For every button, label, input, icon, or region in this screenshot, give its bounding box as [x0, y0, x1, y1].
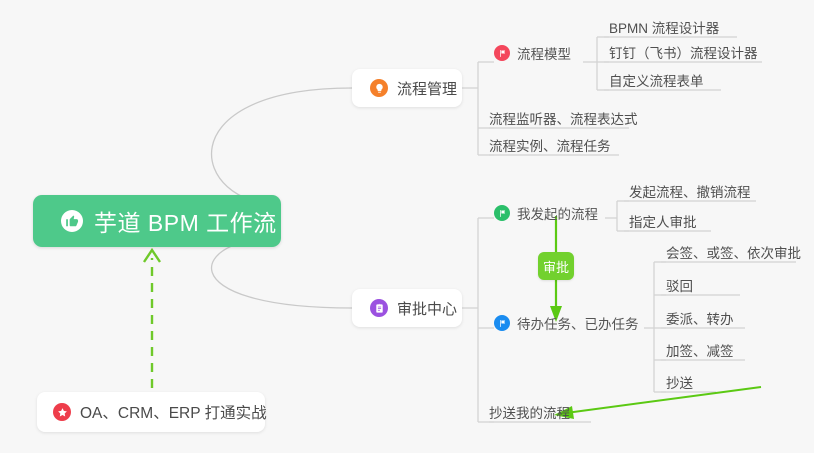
flag-icon	[494, 315, 510, 331]
mindmap-canvas: 芋道 BPM 工作流 流程管理 流程模型 BPMN 流程设计器 钉钉（飞书）流程…	[0, 0, 814, 453]
leaf-reject[interactable]: 驳回	[666, 279, 693, 300]
leaf-custom-process-form[interactable]: 自定义流程表单	[609, 74, 704, 95]
branch-node-process-management[interactable]: 流程管理	[352, 69, 462, 107]
node-my-started-processes[interactable]: 我发起的流程	[494, 203, 598, 223]
thumbs-up-icon	[61, 210, 83, 232]
node-label-integration-practice: OA、CRM、ERP 打通实战	[80, 401, 267, 423]
leaf-cc[interactable]: 抄送	[666, 376, 693, 397]
leaf-add-remove-sign[interactable]: 加签、减签	[666, 344, 734, 365]
leaf-process-listener-expression[interactable]: 流程监听器、流程表达式	[489, 112, 638, 133]
flag-icon	[494, 45, 510, 61]
node-process-model[interactable]: 流程模型	[494, 43, 571, 63]
branch-label-process-management: 流程管理	[397, 78, 457, 99]
clipboard-icon	[370, 299, 388, 317]
node-label-todo-done-tasks: 待办任务、已办任务	[517, 313, 639, 333]
lightbulb-icon	[370, 79, 388, 97]
leaf-process-instance-task[interactable]: 流程实例、流程任务	[489, 139, 611, 160]
leaf-dingtalk-feishu-designer[interactable]: 钉钉（飞书）流程设计器	[609, 46, 758, 67]
root-label: 芋道 BPM 工作流	[94, 204, 277, 238]
node-todo-done-tasks[interactable]: 待办任务、已办任务	[494, 313, 639, 333]
leaf-cc-to-me-processes[interactable]: 抄送我的流程	[489, 406, 570, 427]
annotation-approve-tag: 审批	[538, 252, 574, 280]
leaf-start-cancel-process[interactable]: 发起流程、撤销流程	[629, 185, 751, 206]
leaf-assignee-approval[interactable]: 指定人审批	[629, 215, 697, 236]
annotation-approve-label: 审批	[543, 257, 569, 276]
flag-icon	[494, 205, 510, 221]
star-icon	[53, 403, 71, 421]
root-node[interactable]: 芋道 BPM 工作流	[33, 195, 281, 247]
leaf-countersign-orsign-sequential[interactable]: 会签、或签、依次审批	[666, 246, 801, 267]
node-label-my-started-processes: 我发起的流程	[517, 203, 598, 223]
branch-label-approval-center: 审批中心	[397, 298, 457, 319]
leaf-delegate-transfer[interactable]: 委派、转办	[666, 312, 734, 333]
arrow-head-up	[144, 250, 160, 262]
node-integration-practice[interactable]: OA、CRM、ERP 打通实战	[37, 392, 265, 432]
leaf-bpmn-designer[interactable]: BPMN 流程设计器	[609, 21, 719, 42]
node-label-process-model: 流程模型	[517, 43, 571, 63]
branch-node-approval-center[interactable]: 审批中心	[352, 289, 462, 327]
